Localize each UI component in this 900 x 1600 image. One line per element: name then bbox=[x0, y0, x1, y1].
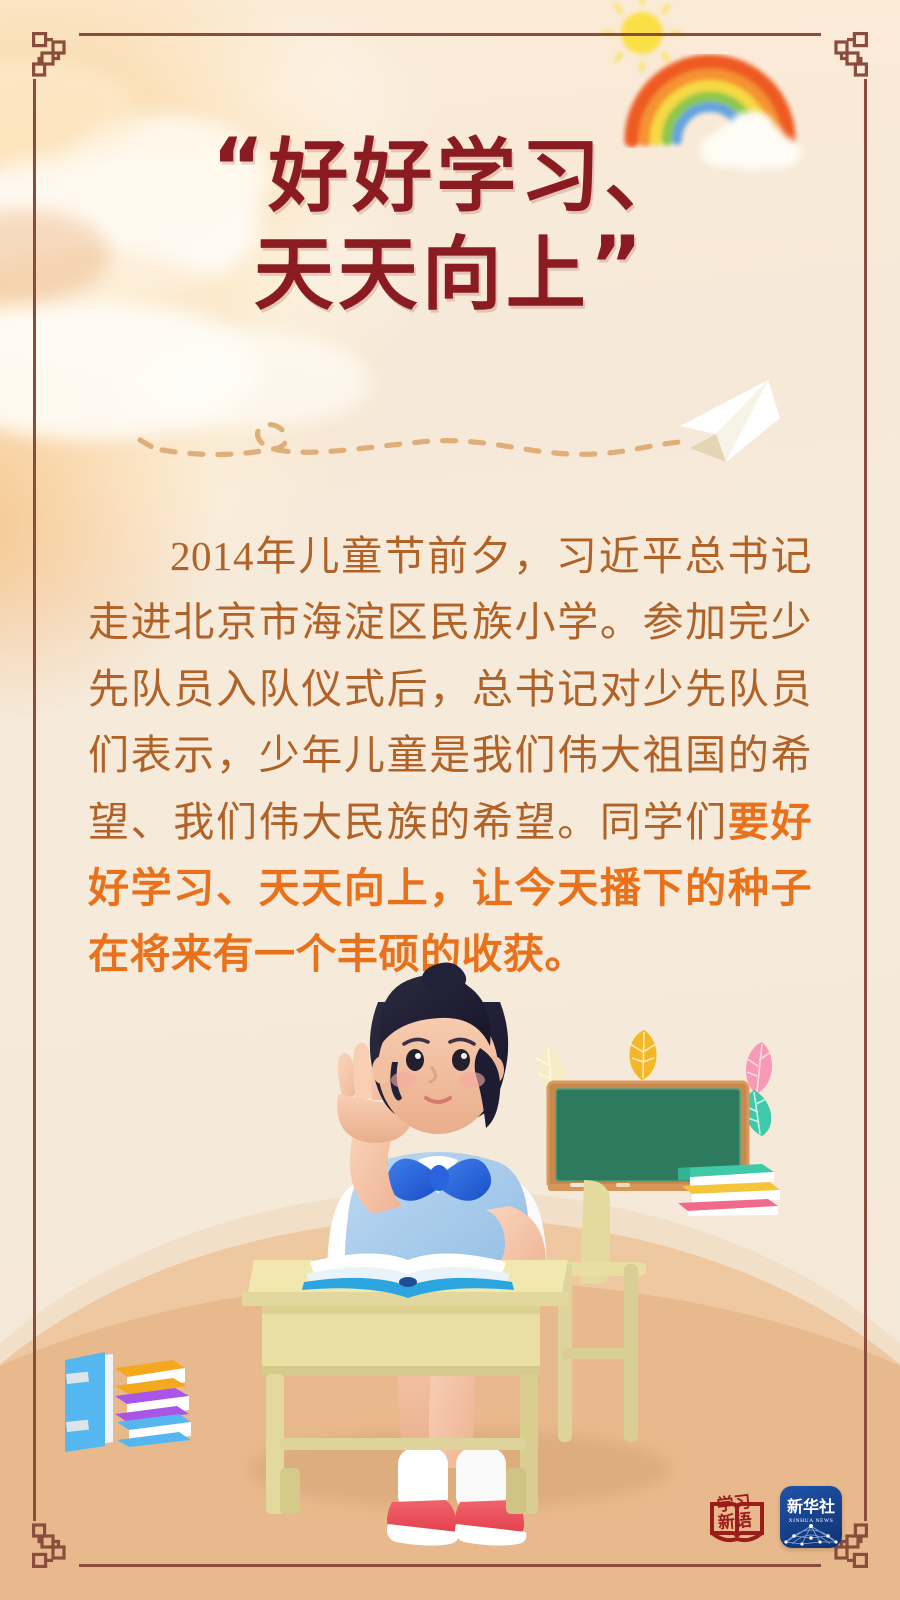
title-line-1: “好好学习、 bbox=[0, 128, 900, 226]
sun-icon bbox=[604, 0, 680, 70]
trail-path bbox=[140, 425, 680, 455]
hair-back bbox=[370, 1002, 508, 1118]
poster-title: “好好学习、 天天向上” bbox=[0, 128, 900, 323]
poster-canvas: “好好学习、 天天向上” 2014年儿童节前夕，习近平总书记走进北京市海淀区民族… bbox=[0, 0, 900, 1600]
floor-shadow bbox=[250, 1430, 670, 1508]
xinhua-news-logo[interactable]: 新华社 XINHUA NEWS bbox=[780, 1486, 842, 1548]
paper-plane-icon bbox=[680, 380, 780, 462]
xuexi-logo-line-2: 新语 bbox=[717, 1513, 752, 1533]
close-quote: ” bbox=[590, 219, 647, 312]
title-line-2: 天天向上” bbox=[0, 226, 900, 324]
logo-group: 学习 新语 新华社 XINHUA NEWS bbox=[706, 1486, 842, 1548]
xuexi-xinyu-logo[interactable]: 学习 新语 bbox=[706, 1486, 768, 1548]
hand-icon bbox=[337, 1043, 420, 1143]
network-globe-icon bbox=[780, 1516, 842, 1546]
body-text-normal: 2014年儿童节前夕，习近平总书记走进北京市海淀区民族小学。参加完少先队员入队仪… bbox=[88, 533, 812, 845]
ponytail bbox=[475, 1048, 500, 1128]
meander-corner-icon bbox=[31, 31, 83, 83]
decorative-leaves bbox=[536, 1030, 772, 1136]
student-head bbox=[370, 962, 508, 1134]
open-quote: “ bbox=[212, 121, 269, 214]
xinhua-logo-cn: 新华社 bbox=[787, 1493, 835, 1517]
meander-corner-icon bbox=[817, 31, 869, 83]
face bbox=[378, 1002, 498, 1134]
frame-line-top bbox=[79, 33, 821, 36]
dashed-trail bbox=[120, 378, 780, 468]
title-line-2-text: 天天向上 bbox=[254, 228, 590, 321]
body-paragraph: 2014年儿童节前夕，习近平总书记走进北京市海淀区民族小学。参加完少先队员入队仪… bbox=[88, 523, 812, 988]
title-line-1-text: 好好学习、 bbox=[268, 130, 688, 223]
